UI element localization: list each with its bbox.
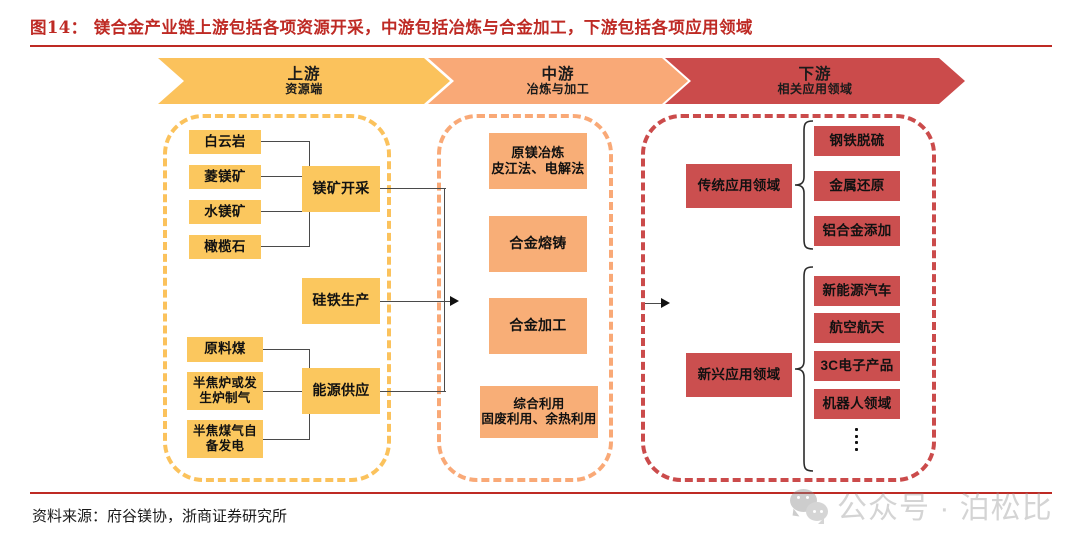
node-metal-reduction[interactable]: 金属还原: [814, 171, 900, 201]
node-mineral-brucite[interactable]: 水镁矿: [189, 200, 261, 224]
node-emerging-applications[interactable]: 新兴应用领域: [686, 353, 792, 397]
node-aerospace[interactable]: 航空航天: [814, 313, 900, 343]
node-traditional-applications[interactable]: 传统应用领域: [686, 164, 792, 208]
banner-downstream-main: 下游: [777, 66, 852, 83]
wechat-icon: [790, 489, 828, 521]
connector-energy-out: [380, 391, 446, 392]
connector-semicoke-power: [263, 439, 310, 440]
figure-title-wrap: 图14： 镁合金产业链上游包括各项资源开采，中游包括冶炼与合金加工，下游包括各项…: [30, 14, 1060, 46]
node-mineral-olivine[interactable]: 橄榄石: [189, 235, 261, 259]
node-ferrosilicon-production[interactable]: 硅铁生产: [302, 278, 380, 324]
connector-upstream-to-midstream: [408, 301, 452, 302]
node-magnesium-mining[interactable]: 镁矿开采: [302, 166, 380, 212]
source-note: 资料来源：府谷镁协，浙商证券研究所: [32, 505, 287, 526]
connector-raw-coal: [263, 349, 310, 350]
connector-upstream-merge-bus: [444, 188, 445, 392]
banner-midstream-sub: 冶炼与加工: [527, 83, 590, 96]
node-mineral-dolomite[interactable]: 白云岩: [189, 130, 261, 154]
title-divider-top: [30, 45, 1052, 47]
banner-downstream: 下游 相关应用领域: [665, 58, 965, 104]
node-aluminum-alloy-additive[interactable]: 铝合金添加: [814, 216, 900, 246]
banner-midstream-main: 中游: [527, 66, 590, 83]
watermark-text: 公众号 · 泊松比: [837, 483, 1053, 527]
node-semicoke-gas[interactable]: 半焦炉或发 生炉制气: [187, 372, 263, 410]
banner-midstream: 中游 冶炼与加工: [428, 58, 688, 104]
banner-upstream: 上游 资源端: [158, 58, 450, 104]
footer-divider: [30, 492, 1052, 494]
node-robotics[interactable]: 机器人领域: [814, 389, 900, 419]
node-3c-electronics[interactable]: 3C电子产品: [814, 351, 900, 381]
node-steel-desulfurization[interactable]: 钢铁脱硫: [814, 126, 900, 156]
connector-mining-out: [380, 188, 446, 189]
page-title: 图14： 镁合金产业链上游包括各项资源开采，中游包括冶炼与合金加工，下游包括各项…: [30, 14, 1060, 38]
brace-emerging: [791, 265, 815, 473]
banner-upstream-main: 上游: [285, 66, 323, 83]
banner-upstream-sub: 资源端: [285, 83, 323, 96]
ellipsis-vertical-icon: [855, 428, 858, 451]
node-new-energy-vehicles[interactable]: 新能源汽车: [814, 276, 900, 306]
node-mineral-magnesite[interactable]: 菱镁矿: [189, 165, 261, 189]
node-raw-coal[interactable]: 原料煤: [187, 337, 263, 362]
connector-olivine: [261, 246, 310, 247]
node-comprehensive-utilization[interactable]: 综合利用 固废利用、余热利用: [480, 386, 598, 438]
arrow-midstream-to-downstream: [661, 298, 670, 308]
node-semicoke-power[interactable]: 半焦煤气自 备发电: [187, 420, 263, 458]
connector-dolomite: [261, 141, 310, 142]
node-alloy-processing[interactable]: 合金加工: [489, 298, 587, 354]
brace-traditional: [791, 119, 815, 251]
banner-downstream-sub: 相关应用领域: [777, 83, 852, 96]
arrow-upstream-to-midstream: [450, 296, 459, 306]
node-primary-smelting[interactable]: 原镁冶炼 皮江法、电解法: [489, 133, 587, 189]
watermark: 公众号 · 泊松比: [790, 483, 1053, 527]
node-alloy-casting[interactable]: 合金熔铸: [489, 216, 587, 272]
node-energy-supply[interactable]: 能源供应: [302, 368, 380, 414]
